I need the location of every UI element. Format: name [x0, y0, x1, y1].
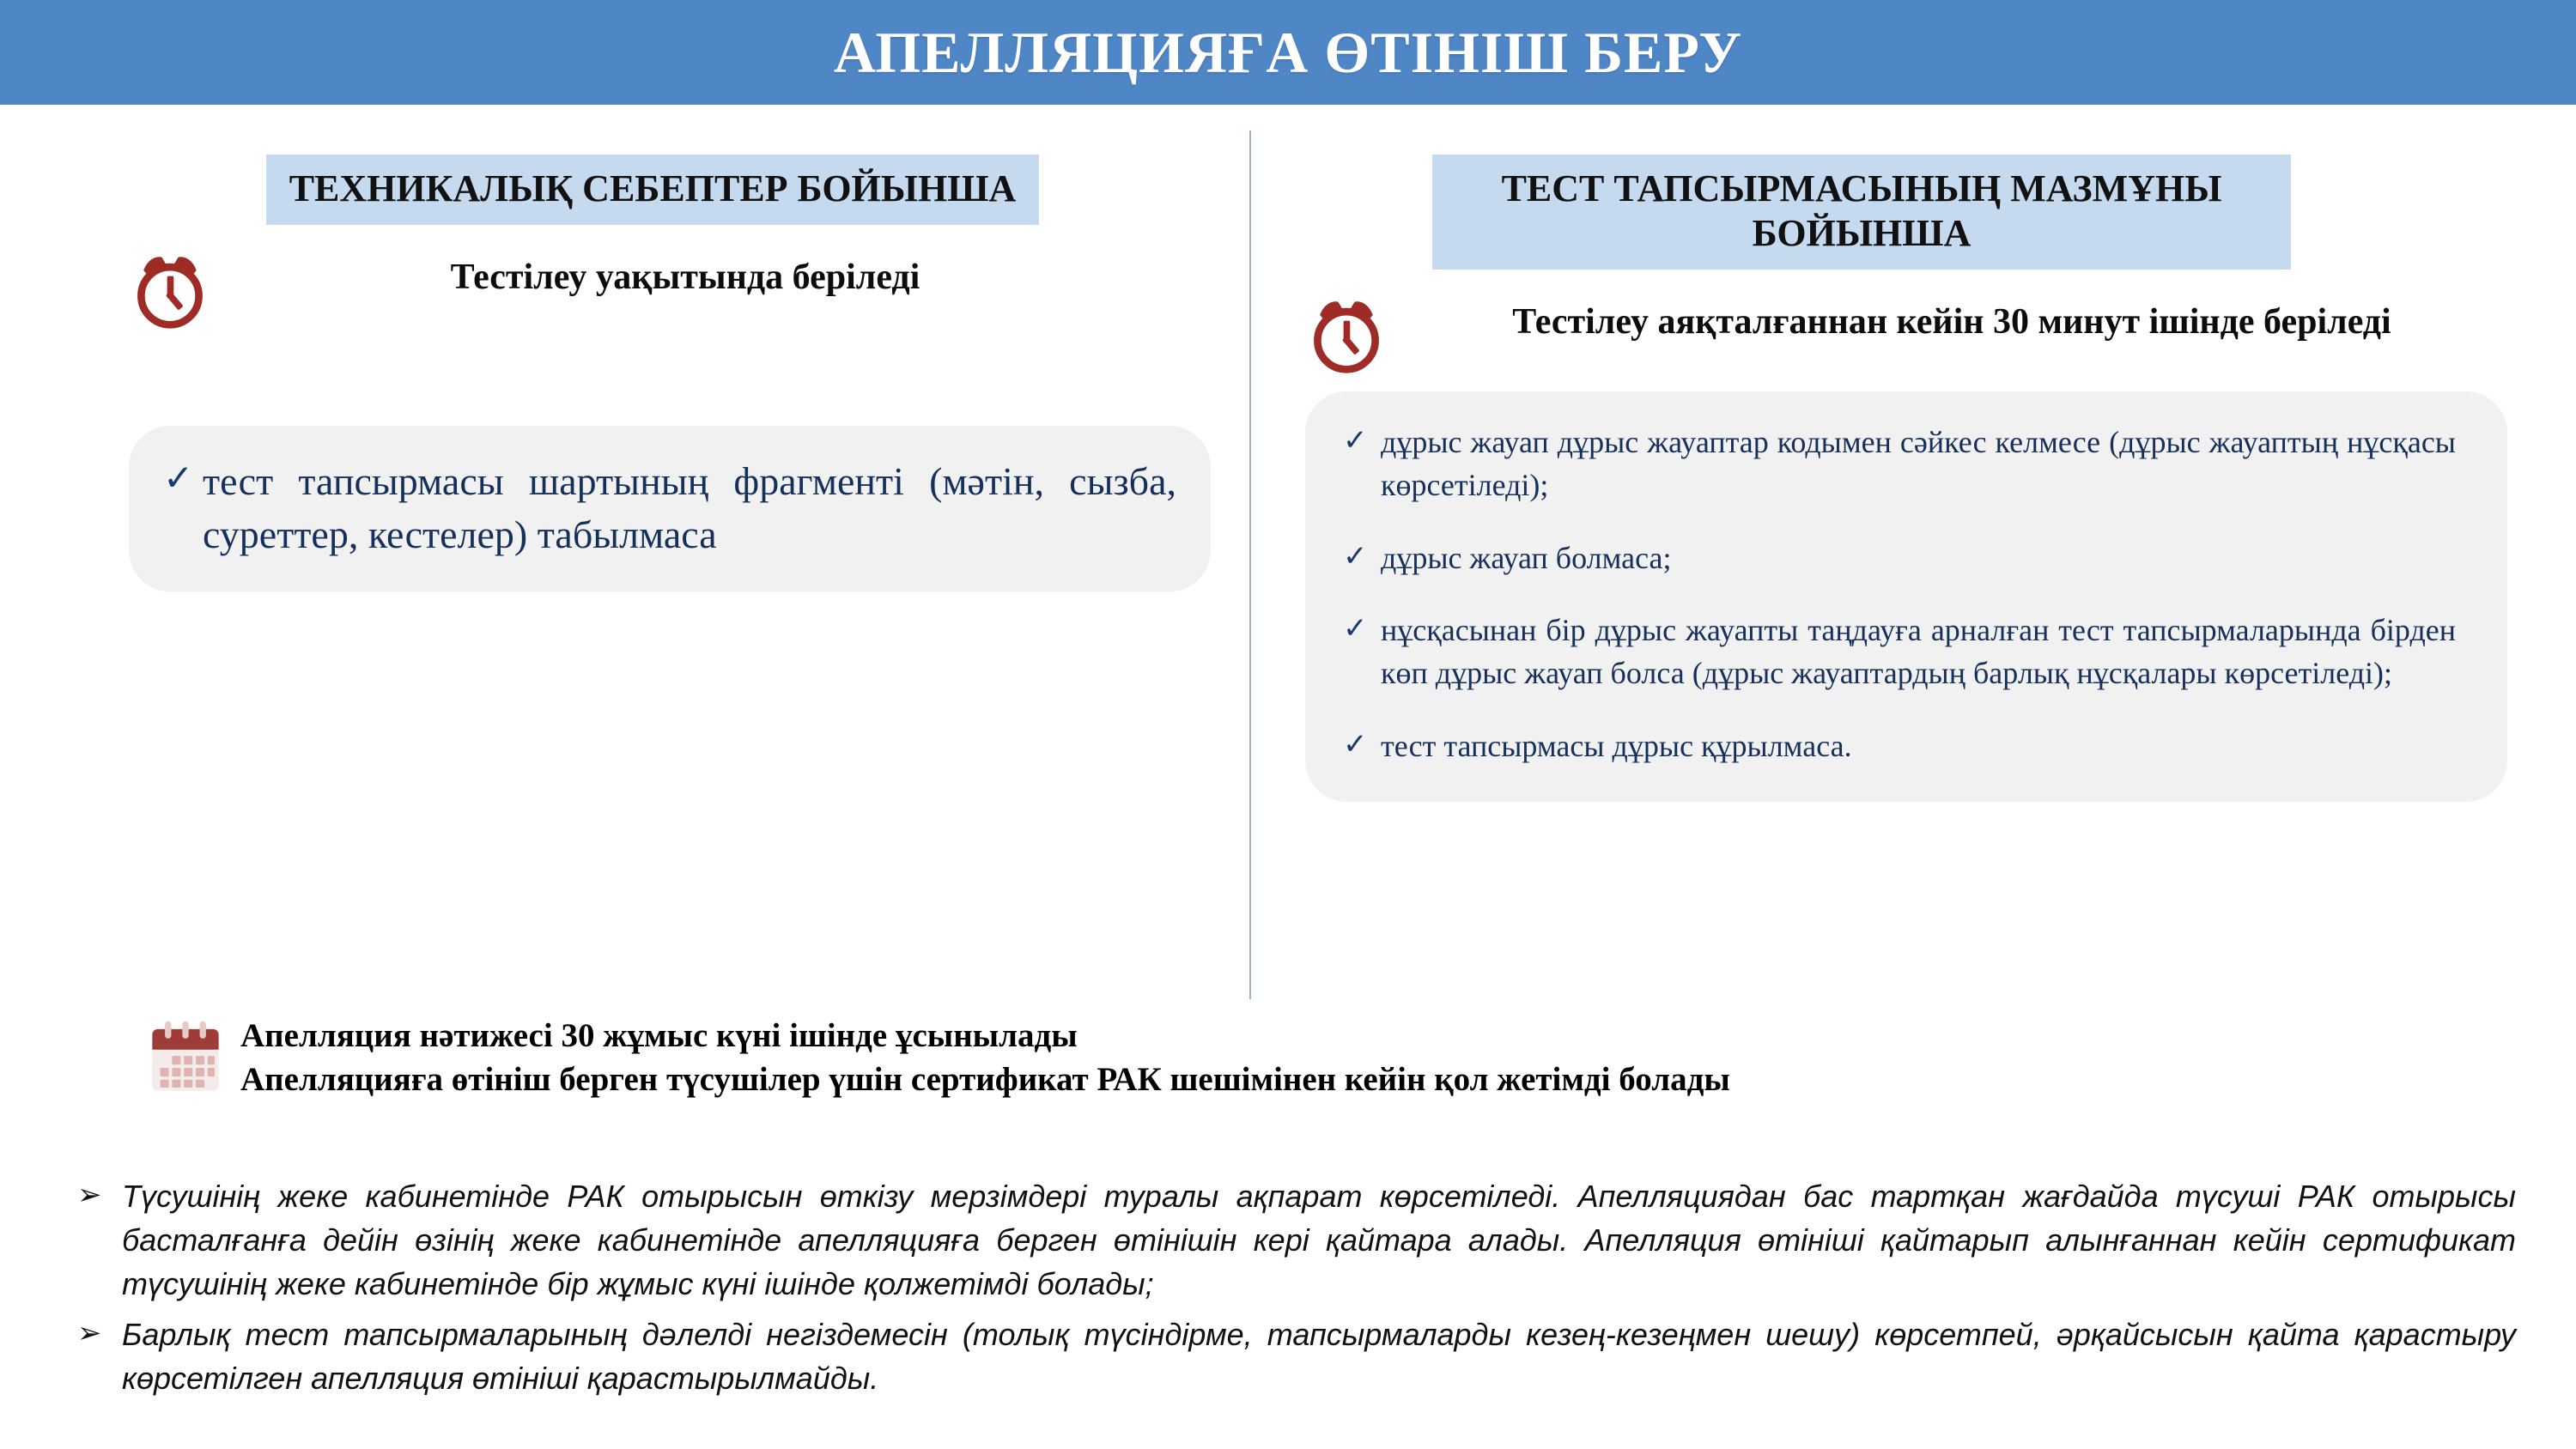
list-item-text: дұрыс жауап болмаса;: [1381, 537, 2456, 579]
list-item: ➢ Түсушінің жеке кабинетінде РАК отырысы…: [77, 1174, 2516, 1306]
calendar-note-line-2: Апелляцияға өтініш берген түсушілер үшін…: [240, 1058, 1730, 1102]
list-item-text: дұрыс жауап дұрыс жауаптар кодымен сәйке…: [1381, 421, 2456, 507]
list-item-text: нұсқасынан бір дұрыс жауапты таңдауға ар…: [1381, 609, 2456, 695]
alarm-clock-icon: [1305, 294, 1388, 376]
list-item: ✓ тест тапсырмасы дұрыс құрылмаса.: [1343, 724, 2456, 767]
list-item: ✓ тест тапсырмасы шартының фрагменті (мә…: [163, 455, 1176, 561]
list-item: ✓ дұрыс жауап дұрыс жауаптар кодымен сәй…: [1343, 421, 2456, 507]
left-column: ТЕХНИКАЛЫҚ СЕБЕПТЕР БОЙЫНША Тестілеу уақ…: [129, 155, 1211, 591]
arrow-bullet-icon: ➢: [77, 1313, 122, 1354]
check-icon: ✓: [1343, 537, 1381, 578]
check-icon: ✓: [163, 455, 203, 503]
alarm-clock-icon: [129, 249, 211, 331]
calendar-note-text: Апелляция нәтижесі 30 жұмыс күні ішінде …: [240, 1015, 1730, 1101]
calendar-note: Апелляция нәтижесі 30 жұмыс күні ішінде …: [146, 1015, 1730, 1101]
left-reasons-card: ✓ тест тапсырмасы шартының фрагменті (мә…: [129, 426, 1211, 591]
list-item: ✓ дұрыс жауап болмаса;: [1343, 537, 2456, 579]
left-column-heading: ТЕХНИКАЛЫҚ СЕБЕПТЕР БОЙЫНША: [266, 155, 1039, 225]
right-column: ТЕСТ ТАПСЫРМАСЫНЫҢ МАЗМҰНЫ БОЙЫНША Тесті…: [1305, 155, 2507, 802]
left-timing-row: Тестілеу уақытында беріледі: [129, 249, 1211, 331]
check-icon: ✓: [1343, 724, 1381, 766]
right-timing-text: Тестілеу аяқталғаннан кейін 30 минут іші…: [1396, 294, 2507, 344]
check-icon: ✓: [1343, 609, 1381, 650]
right-column-heading: ТЕСТ ТАПСЫРМАСЫНЫҢ МАЗМҰНЫ БОЙЫНША: [1432, 155, 2291, 270]
page-title-banner: АПЕЛЛЯЦИЯҒА ӨТІНІШ БЕРУ: [0, 0, 2576, 105]
right-reasons-card: ✓ дұрыс жауап дұрыс жауаптар кодымен сәй…: [1305, 391, 2507, 802]
list-item: ➢ Барлық тест тапсырмаларының дәлелді не…: [77, 1313, 2516, 1400]
column-divider: [1249, 130, 1251, 999]
footer-notes: ➢ Түсушінің жеке кабинетінде РАК отырысы…: [77, 1174, 2516, 1401]
right-timing-row: Тестілеу аяқталғаннан кейін 30 минут іші…: [1305, 294, 2507, 376]
calendar-note-line-1: Апелляция нәтижесі 30 жұмыс күні ішінде …: [240, 1015, 1730, 1058]
page-title: АПЕЛЛЯЦИЯҒА ӨТІНІШ БЕРУ: [834, 23, 1742, 82]
check-icon: ✓: [1343, 421, 1381, 462]
arrow-bullet-icon: ➢: [77, 1174, 122, 1216]
list-item: ✓ нұсқасынан бір дұрыс жауапты таңдауға …: [1343, 609, 2456, 695]
list-item-text: тест тапсырмасы шартының фрагменті (мәті…: [203, 455, 1176, 561]
list-item-text: Барлық тест тапсырмаларының дәлелді негі…: [122, 1313, 2516, 1400]
list-item-text: Түсушінің жеке кабинетінде РАК отырысын …: [122, 1174, 2516, 1306]
left-timing-text: Тестілеу уақытында беріледі: [220, 249, 1211, 300]
calendar-icon: [146, 1018, 225, 1097]
list-item-text: тест тапсырмасы дұрыс құрылмаса.: [1381, 724, 2456, 767]
